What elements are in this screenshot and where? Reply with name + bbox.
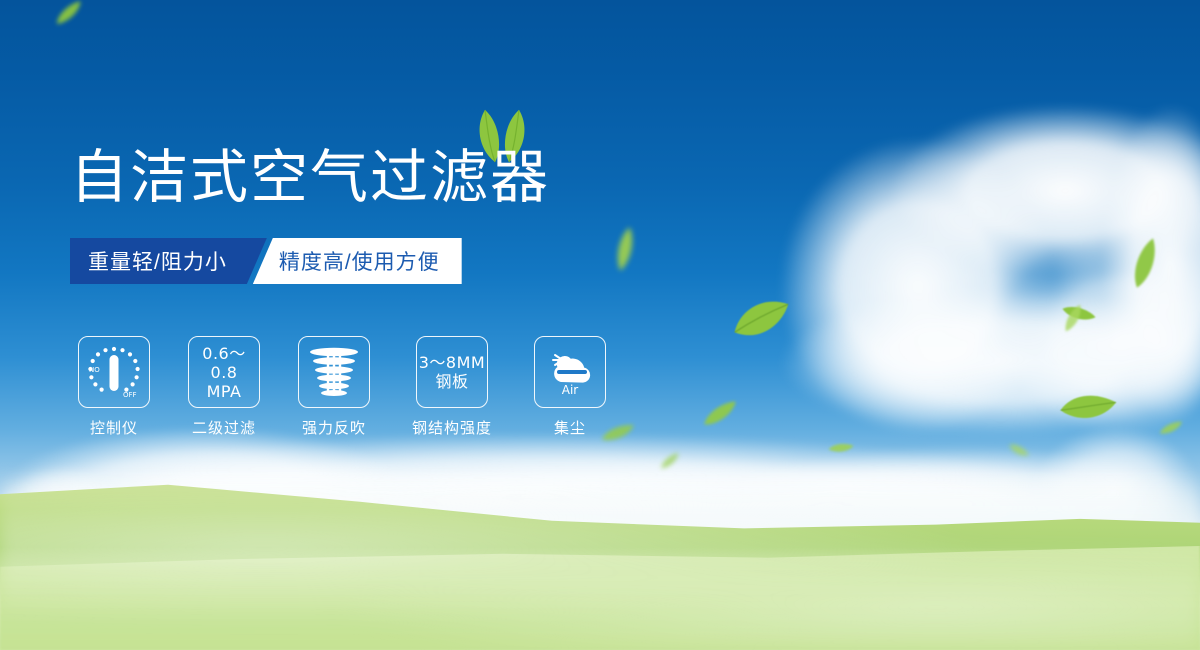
leaf-icon (49, 0, 89, 31)
feature-item-dust[interactable]: Air 集尘 (530, 336, 610, 438)
dial-gauge-icon: NO OFF (78, 336, 150, 408)
air-cloud-icon: Air (534, 336, 606, 408)
air-label: Air (562, 383, 579, 397)
feature-caption: 控制仪 (90, 417, 138, 438)
subtitle-segment-right: 精度高/使用方便 (253, 238, 462, 284)
feature-value: 3〜8MM 钢板 (419, 353, 485, 391)
feature-item-control[interactable]: NO OFF 控制仪 (74, 336, 154, 438)
leaf-icon (827, 438, 855, 457)
feature-caption: 强力反吹 (302, 417, 366, 438)
filter-cartridge-icon (298, 336, 370, 408)
steel-plate-value-icon: 3〜8MM 钢板 (416, 336, 488, 408)
svg-text:OFF: OFF (123, 391, 137, 399)
feature-caption: 集尘 (554, 417, 586, 438)
leaf-icon (609, 224, 640, 274)
feature-caption: 钢结构强度 (412, 417, 492, 438)
feature-value: 0.6〜0.8 MPA (189, 344, 259, 401)
grass-highlight (0, 480, 1200, 650)
feature-item-blowback[interactable]: 强力反吹 (294, 336, 374, 438)
pressure-value-icon: 0.6〜0.8 MPA (188, 336, 260, 408)
feature-list: NO OFF 控制仪 0.6〜0.8 MPA 二级过滤 (74, 336, 610, 438)
feature-caption: 二级过滤 (192, 417, 256, 438)
feature-item-steel[interactable]: 3〜8MM 钢板 钢结构强度 (404, 336, 500, 438)
subtitle-bar: 重量轻/阻力小 精度高/使用方便 (70, 238, 462, 284)
hero-banner: 自洁式空气过滤器 重量轻/阻力小 精度高/使用方便 (0, 0, 1200, 650)
subtitle-segment-left: 重量轻/阻力小 (70, 238, 267, 284)
svg-text:NO: NO (89, 366, 100, 374)
page-title: 自洁式空气过滤器 (70, 143, 550, 211)
feature-item-filtration[interactable]: 0.6〜0.8 MPA 二级过滤 (184, 336, 264, 438)
